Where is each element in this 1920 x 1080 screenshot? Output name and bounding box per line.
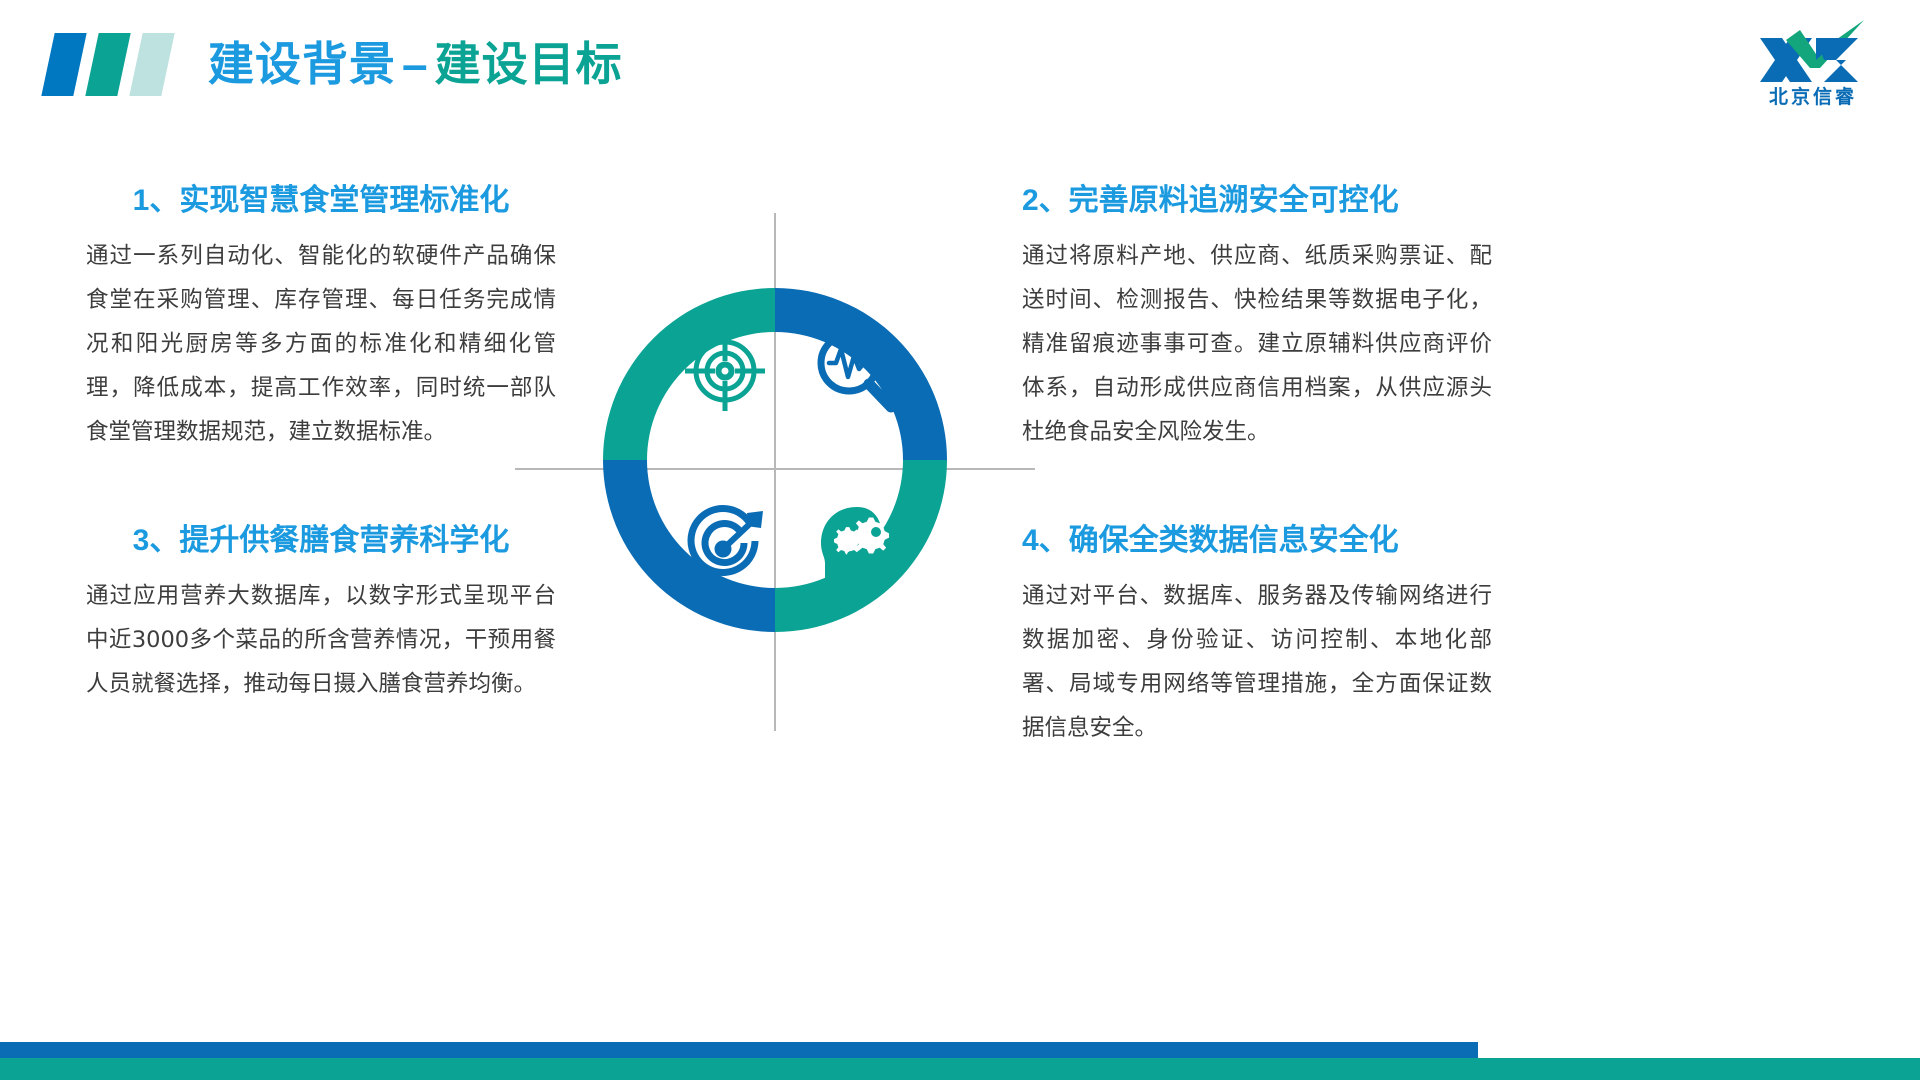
goal-3-title: 3、提升供餐膳食营养科学化 (86, 522, 556, 560)
dartboard-arrow-icon (677, 497, 773, 593)
goal-1-body: 通过一系列自动化、智能化的软硬件产品确保食堂在采购管理、库存管理、每日任务完成情… (86, 234, 556, 454)
bar-light-teal-icon (129, 33, 174, 96)
company-logo: 北京信睿 (1748, 20, 1878, 118)
bar-blue-icon (41, 33, 86, 96)
footer-teal-bar (0, 1058, 1920, 1080)
magnifier-pulse-icon (807, 323, 903, 419)
page-title-secondary: 建设目标 (435, 38, 623, 90)
slide-footer (0, 1024, 1920, 1080)
head-gears-icon (807, 497, 903, 593)
goal-block-3: 3、提升供餐膳食营养科学化 通过应用营养大数据库，以数字形式呈现平台中近3000… (86, 522, 556, 706)
goal-3-body: 通过应用营养大数据库，以数字形式呈现平台中近3000多个菜品的所含营养情况，干预… (86, 574, 556, 706)
bar-teal-icon (85, 33, 130, 96)
slide-header: 建设背景–建设目标 北京信睿 (0, 0, 1920, 140)
page-title-separator: – (396, 38, 435, 90)
dartboard-arrow-icon-cell (677, 497, 773, 593)
head-gears-icon-cell (807, 497, 903, 593)
xr-logo-mark-icon (1754, 20, 1874, 82)
header-accent-bars (48, 33, 188, 96)
footer-blue-bar (0, 1042, 1478, 1058)
magnifier-pulse-icon-cell (807, 323, 903, 419)
goal-2-title: 2、完善原料追溯安全可控化 (1022, 182, 1492, 220)
goal-4-title: 4、确保全类数据信息安全化 (1022, 522, 1492, 560)
goal-4-body: 通过对平台、数据库、服务器及传输网络进行数据加密、身份验证、访问控制、本地化部署… (1022, 574, 1492, 750)
company-name: 北京信睿 (1748, 82, 1878, 109)
goal-1-title: 1、实现智慧食堂管理标准化 (86, 182, 556, 220)
goal-2-body: 通过将原料产地、供应商、纸质采购票证、配送时间、检测报告、快检结果等数据电子化，… (1022, 234, 1492, 454)
crosshair-target-icon-cell (677, 323, 773, 419)
center-diagram (515, 205, 1035, 735)
quadrant-donut-chart (575, 260, 975, 660)
crosshair-target-icon (677, 323, 773, 419)
goal-block-1: 1、实现智慧食堂管理标准化 通过一系列自动化、智能化的软硬件产品确保食堂在采购管… (86, 182, 556, 454)
page-title-primary: 建设背景 (208, 38, 396, 90)
goal-block-4: 4、确保全类数据信息安全化 通过对平台、数据库、服务器及传输网络进行数据加密、身… (1022, 522, 1492, 750)
page-title: 建设背景–建设目标 (208, 30, 623, 98)
goal-block-2: 2、完善原料追溯安全可控化 通过将原料产地、供应商、纸质采购票证、配送时间、检测… (1022, 182, 1492, 454)
